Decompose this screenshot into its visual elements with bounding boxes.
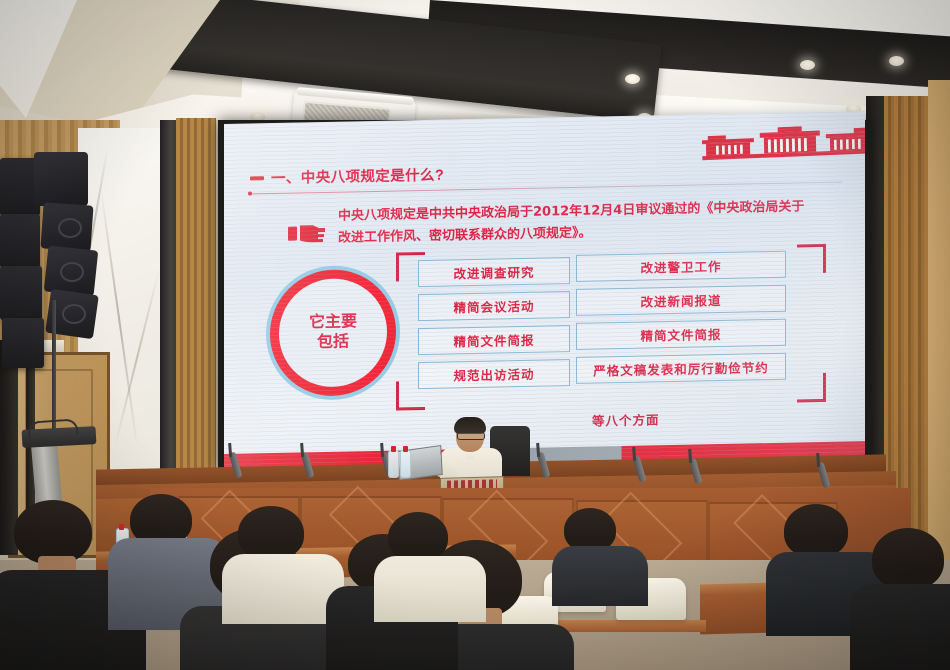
person-head xyxy=(872,528,944,590)
person-shoulders xyxy=(374,556,486,622)
slide-body-text: 中央八项规定是中共中央政治局于2012年12月4日审议通过的《中央政治局关于改进… xyxy=(338,196,808,249)
conference-room-photo: 一、中央八项规定是什么? 中央八项规定是中共中央政治局于2012年12月4日审议… xyxy=(0,0,950,670)
presenter xyxy=(432,420,516,480)
person-head xyxy=(388,512,448,562)
water-bottle xyxy=(400,450,411,478)
circle-badge: 它主要 包括 xyxy=(270,269,396,398)
corner-bracket-bottom-right xyxy=(797,373,826,403)
person-head xyxy=(14,500,92,564)
audience-bench-top xyxy=(556,620,706,632)
speaker-port xyxy=(62,304,86,324)
line-array-speaker xyxy=(0,266,42,320)
items-column-right: 改进警卫工作 改进新闻报道 精简文件简报 严格文稿发表和厉行勤俭节约 xyxy=(576,251,786,384)
person-head xyxy=(784,504,848,558)
person-shoulders xyxy=(552,546,648,606)
pointing-hand-icon xyxy=(288,220,326,247)
list-item: 规范出访活动 xyxy=(418,359,570,389)
list-item: 严格文稿发表和厉行勤俭节约 xyxy=(576,353,786,384)
led-screen[interactable]: 一、中央八项规定是什么? 中央八项规定是中共中央政治局于2012年12月4日审议… xyxy=(224,111,865,468)
presentation-slide: 一、中央八项规定是什么? 中央八项规定是中共中央政治局于2012年12月4日审议… xyxy=(224,111,865,468)
water-bottle xyxy=(388,450,399,478)
speaker-port xyxy=(58,218,82,238)
downlight xyxy=(800,60,815,70)
room-interior: 一、中央八项规定是什么? 中央八项规定是中共中央政治局于2012年12月4日审议… xyxy=(0,0,950,670)
list-item: 精简文件简报 xyxy=(576,319,786,350)
corner-bracket-top-right xyxy=(797,244,826,274)
items-column-left: 改进调查研究 精简会议活动 精简文件简报 规范出访活动 xyxy=(418,257,570,389)
list-item: 改进警卫工作 xyxy=(576,251,786,282)
line-array-speaker xyxy=(2,318,44,368)
list-item: 改进调查研究 xyxy=(418,257,570,287)
eyeglasses-icon xyxy=(457,432,485,440)
circle-badge-line1: 它主要 xyxy=(309,312,357,333)
line-array-speaker xyxy=(0,214,40,268)
downlight xyxy=(889,56,904,66)
circle-badge-line2: 包括 xyxy=(317,332,349,353)
person-shoulders xyxy=(850,584,950,670)
slide-title: 一、中央八项规定是什么? xyxy=(271,164,444,188)
speaker-port xyxy=(60,262,84,282)
slide-title-row: 一、中央八项规定是什么? xyxy=(250,164,444,189)
list-item: 精简文件简报 xyxy=(418,325,570,355)
person-head xyxy=(238,506,304,560)
slide-footer-note: 等八个方面 xyxy=(592,409,660,429)
title-accent-dash xyxy=(250,176,264,180)
list-item: 精简会议活动 xyxy=(418,291,570,321)
downlight xyxy=(625,74,640,84)
line-array-speaker-cabinet xyxy=(34,152,88,206)
marble-vein xyxy=(114,270,159,445)
tiananmen-gate-icon xyxy=(702,123,865,164)
right-wall-corner xyxy=(928,80,950,570)
list-item: 改进新闻报道 xyxy=(576,285,786,316)
